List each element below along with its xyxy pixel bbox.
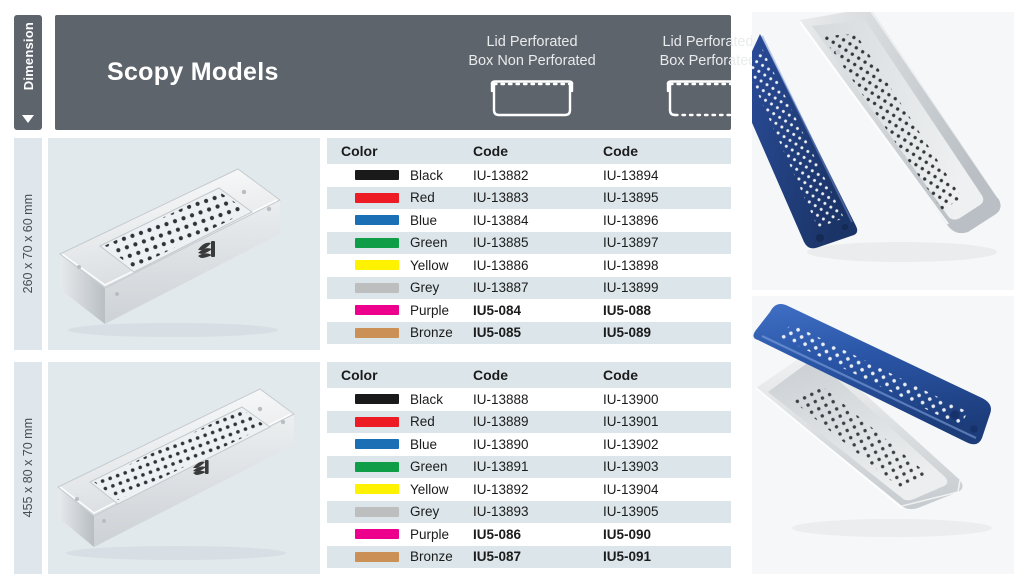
cell-code-1: IU-13884 — [473, 209, 603, 232]
cell-code-1: IU5-085 — [473, 322, 603, 345]
cell-code-1: IU-13883 — [473, 187, 603, 210]
cell-color: Blue — [327, 433, 473, 456]
code-value: IU-13902 — [603, 437, 659, 452]
color-name: Yellow — [410, 482, 449, 497]
cell-code-2: IU-13901 — [603, 411, 731, 434]
code-value: IU-13903 — [603, 459, 659, 474]
catalog-page: Dimension Scopy Models Lid Perforated Bo… — [0, 0, 1024, 585]
box-lid-and-box-perforated-icon — [664, 80, 752, 123]
code-value: IU-13886 — [473, 258, 529, 273]
table-row[interactable]: RedIU-13889IU-13901 — [327, 411, 731, 434]
color-swatch — [355, 484, 399, 494]
code-value: IU-13896 — [603, 213, 659, 228]
color-swatch — [355, 439, 399, 449]
code-value: IU-13889 — [473, 414, 529, 429]
cell-color: Bronze — [327, 322, 473, 345]
cell-code-2: IU5-089 — [603, 322, 731, 345]
table-header-row: Color Code Code — [327, 362, 731, 388]
cell-code-2: IU-13904 — [603, 478, 731, 501]
dimension-label-1: 260 x 70 x 60 mm — [21, 194, 35, 293]
cell-code-1: IU-13890 — [473, 433, 603, 456]
header-color: Color — [327, 138, 473, 164]
table-row[interactable]: BlackIU-13882IU-13894 — [327, 164, 731, 187]
cell-code-2: IU-13898 — [603, 254, 731, 277]
cell-code-1: IU-13891 — [473, 456, 603, 479]
color-name: Green — [410, 459, 448, 474]
code-value: IU-13891 — [473, 459, 529, 474]
code-value: IU-13883 — [473, 190, 529, 205]
cell-code-2: IU5-090 — [603, 523, 731, 546]
code-value: IU5-090 — [603, 527, 651, 542]
header-col2-line1: Lid Perforated — [662, 33, 753, 52]
code-value: IU-13885 — [473, 235, 529, 250]
color-swatch — [355, 417, 399, 427]
code-value: IU-13897 — [603, 235, 659, 250]
table-row[interactable]: GreyIU-13893IU-13905 — [327, 501, 731, 524]
color-name: Purple — [410, 527, 449, 542]
table-row[interactable]: RedIU-13883IU-13895 — [327, 187, 731, 210]
cell-code-2: IU-13902 — [603, 433, 731, 456]
table-body-455: BlackIU-13888IU-13900RedIU-13889IU-13901… — [327, 388, 731, 568]
color-name: Green — [410, 235, 448, 250]
color-swatch — [355, 305, 399, 315]
color-swatch — [355, 529, 399, 539]
code-value: IU-13894 — [603, 168, 659, 183]
header-banner: Scopy Models Lid Perforated Box Non Perf… — [55, 15, 731, 130]
cell-code-1: IU-13889 — [473, 411, 603, 434]
color-name: Grey — [410, 504, 439, 519]
cell-code-2: IU5-091 — [603, 546, 731, 569]
color-swatch — [355, 238, 399, 248]
color-swatch — [355, 328, 399, 338]
cell-color: Green — [327, 456, 473, 479]
dimension-strip-2: 455 x 80 x 70 mm — [14, 362, 42, 574]
code-value: IU-13888 — [473, 392, 529, 407]
cell-code-1: IU-13882 — [473, 164, 603, 187]
cell-code-2: IU-13900 — [603, 388, 731, 411]
cell-color: Bronze — [327, 546, 473, 569]
code-value: IU-13900 — [603, 392, 659, 407]
scopy-box-260-photo — [48, 138, 320, 350]
color-name: Purple — [410, 303, 449, 318]
product-table-455: Color Code Code BlackIU-13888IU-13900Red… — [327, 362, 731, 568]
color-swatch — [355, 215, 399, 225]
cell-color: Purple — [327, 523, 473, 546]
header-col2-line2: Box Perforated — [660, 52, 757, 71]
table-row[interactable]: GreyIU-13887IU-13899 — [327, 277, 731, 300]
code-value: IU-13892 — [473, 482, 529, 497]
triangle-down-icon — [22, 115, 34, 123]
table-row[interactable]: PurpleIU5-086IU5-090 — [327, 523, 731, 546]
color-name: Black — [410, 168, 443, 183]
header-code-2: Code — [603, 362, 731, 388]
code-value: IU-13901 — [603, 414, 659, 429]
code-value: IU-13904 — [603, 482, 659, 497]
color-name: Bronze — [410, 325, 453, 340]
blue-lid-and-open-tray-photo — [752, 12, 1014, 290]
table-header-row: Color Code Code — [327, 138, 731, 164]
dimension-tab[interactable]: Dimension — [14, 15, 42, 130]
blue-lid-over-tray-photo — [752, 296, 1014, 574]
table-row[interactable]: BlueIU-13884IU-13896 — [327, 209, 731, 232]
code-value: IU-13890 — [473, 437, 529, 452]
color-name: Blue — [410, 213, 437, 228]
color-swatch — [355, 193, 399, 203]
cell-code-2: IU-13894 — [603, 164, 731, 187]
table-row[interactable]: GreenIU-13891IU-13903 — [327, 456, 731, 479]
cell-code-2: IU-13903 — [603, 456, 731, 479]
cell-code-2: IU-13899 — [603, 277, 731, 300]
code-value: IU-13882 — [473, 168, 529, 183]
header-code-1: Code — [473, 138, 603, 164]
code-value: IU-13899 — [603, 280, 659, 295]
color-name: Red — [410, 190, 435, 205]
code-value: IU-13905 — [603, 504, 659, 519]
table-row[interactable]: PurpleIU5-084IU5-088 — [327, 299, 731, 322]
color-swatch — [355, 462, 399, 472]
color-swatch — [355, 507, 399, 517]
code-value: IU5-084 — [473, 303, 521, 318]
header-code-2: Code — [603, 138, 731, 164]
color-swatch — [355, 260, 399, 270]
cell-code-2: IU-13897 — [603, 232, 731, 255]
cell-color: Grey — [327, 277, 473, 300]
page-title: Scopy Models — [107, 15, 279, 130]
cell-code-1: IU-13887 — [473, 277, 603, 300]
cell-code-1: IU5-084 — [473, 299, 603, 322]
table-row[interactable]: BlackIU-13888IU-13900 — [327, 388, 731, 411]
cell-code-2: IU5-088 — [603, 299, 731, 322]
cell-color: Red — [327, 411, 473, 434]
code-value: IU-13898 — [603, 258, 659, 273]
scopy-box-455-photo — [48, 362, 320, 574]
dimension-strip-1: 260 x 70 x 60 mm — [14, 138, 42, 350]
header-color: Color — [327, 362, 473, 388]
header-col1-line1: Lid Perforated — [486, 33, 577, 52]
product-table-260: Color Code Code BlackIU-13882IU-13894Red… — [327, 138, 731, 344]
cell-code-1: IU5-087 — [473, 546, 603, 569]
header-code-1: Code — [473, 362, 603, 388]
cell-code-1: IU-13888 — [473, 388, 603, 411]
table-row[interactable]: BronzeIU5-085IU5-089 — [327, 322, 731, 345]
code-value: IU5-087 — [473, 549, 521, 564]
table-body-260: BlackIU-13882IU-13894RedIU-13883IU-13895… — [327, 164, 731, 344]
table-row[interactable]: GreenIU-13885IU-13897 — [327, 232, 731, 255]
cell-color: Grey — [327, 501, 473, 524]
color-swatch — [355, 394, 399, 404]
cell-color: Blue — [327, 209, 473, 232]
color-name: Black — [410, 392, 443, 407]
code-value: IU5-086 — [473, 527, 521, 542]
cell-code-2: IU-13895 — [603, 187, 731, 210]
color-swatch — [355, 170, 399, 180]
color-name: Red — [410, 414, 435, 429]
code-value: IU5-088 — [603, 303, 651, 318]
dimension-tab-label: Dimension — [21, 22, 36, 90]
dimension-label-2: 455 x 80 x 70 mm — [21, 418, 35, 517]
code-value: IU-13884 — [473, 213, 529, 228]
cell-code-2: IU-13905 — [603, 501, 731, 524]
cell-color: Yellow — [327, 254, 473, 277]
header-col1-line2: Box Non Perforated — [468, 52, 595, 71]
color-swatch — [355, 552, 399, 562]
color-name: Blue — [410, 437, 437, 452]
color-name: Grey — [410, 280, 439, 295]
cell-code-1: IU-13886 — [473, 254, 603, 277]
cell-color: Purple — [327, 299, 473, 322]
code-value: IU5-091 — [603, 549, 651, 564]
color-name: Bronze — [410, 549, 453, 564]
table-row[interactable]: YellowIU-13892IU-13904 — [327, 478, 731, 501]
table-row[interactable]: BlueIU-13890IU-13902 — [327, 433, 731, 456]
cell-color: Yellow — [327, 478, 473, 501]
code-value: IU5-085 — [473, 325, 521, 340]
code-value: IU-13887 — [473, 280, 529, 295]
box-lid-perforated-icon — [488, 80, 576, 123]
color-name: Yellow — [410, 258, 449, 273]
cell-color: Green — [327, 232, 473, 255]
cell-code-1: IU-13892 — [473, 478, 603, 501]
cell-color: Red — [327, 187, 473, 210]
cell-code-1: IU-13885 — [473, 232, 603, 255]
cell-code-1: IU-13893 — [473, 501, 603, 524]
cell-code-2: IU-13896 — [603, 209, 731, 232]
table-row[interactable]: YellowIU-13886IU-13898 — [327, 254, 731, 277]
code-value: IU5-089 — [603, 325, 651, 340]
code-value: IU-13893 — [473, 504, 529, 519]
color-swatch — [355, 283, 399, 293]
cell-color: Black — [327, 388, 473, 411]
cell-code-1: IU5-086 — [473, 523, 603, 546]
table-row[interactable]: BronzeIU5-087IU5-091 — [327, 546, 731, 569]
header-column-lid-perforated-box-non-perforated: Lid Perforated Box Non Perforated — [437, 33, 627, 123]
code-value: IU-13895 — [603, 190, 659, 205]
cell-color: Black — [327, 164, 473, 187]
